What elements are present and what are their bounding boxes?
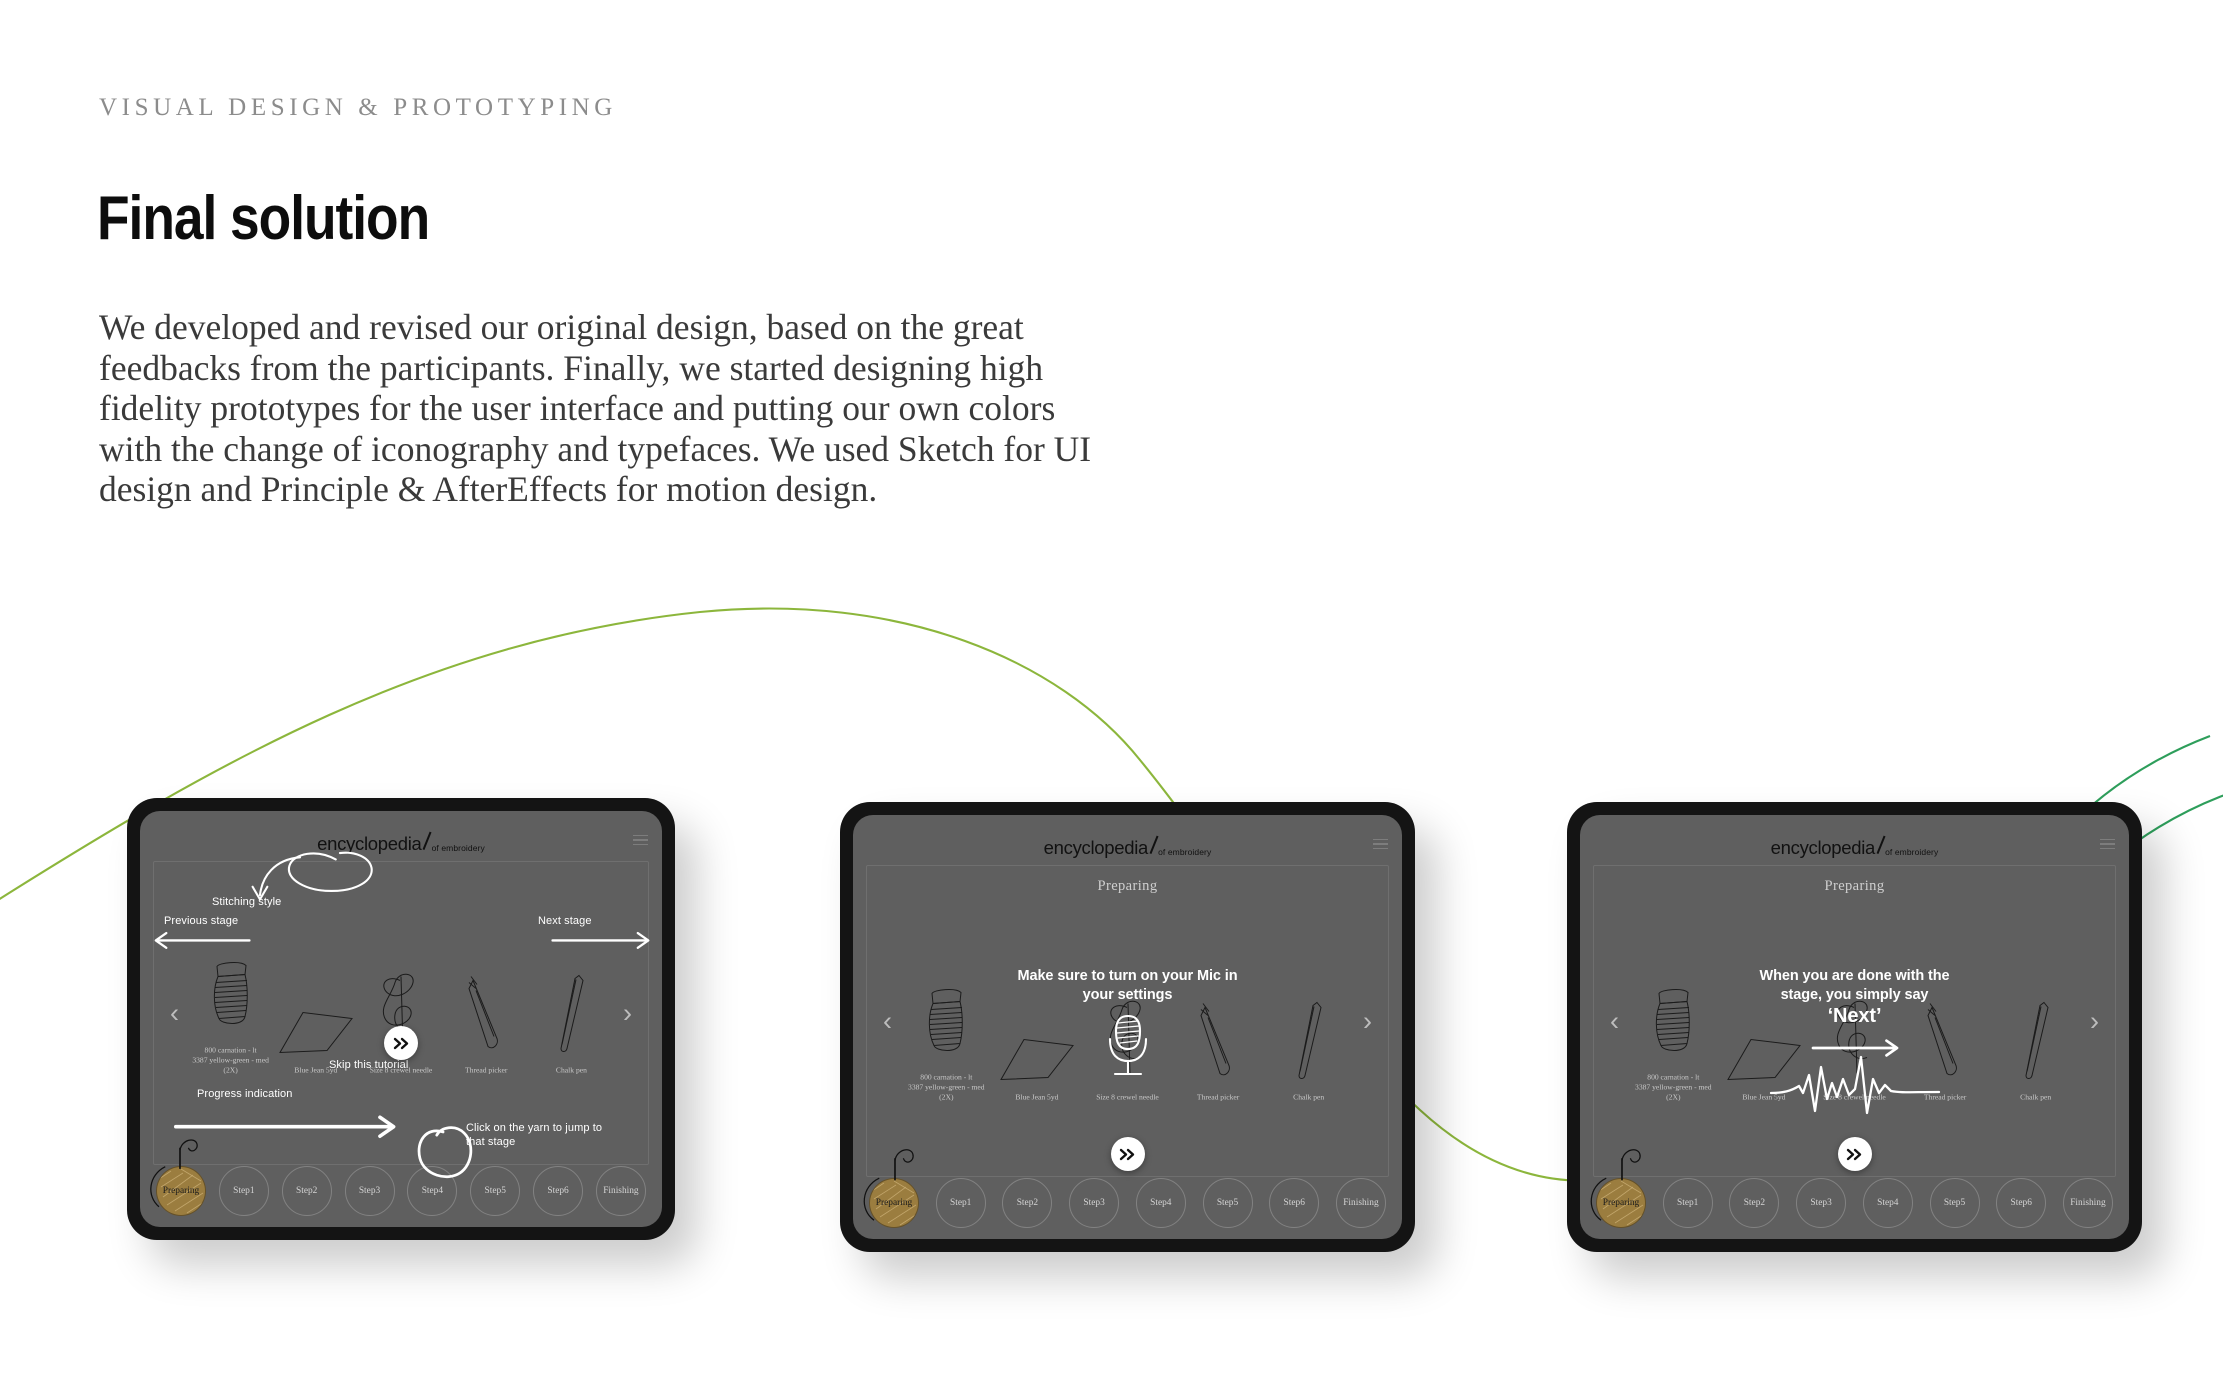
progress-step-3[interactable]: Step3 [345, 1166, 395, 1216]
tablet-2-screen: encyclopedia of embroidery Preparing [853, 815, 1402, 1239]
skip-tutorial-button[interactable] [384, 1026, 418, 1060]
progress-step-6[interactable]: Step6 [1269, 1178, 1319, 1228]
chalk-pen-icon [529, 971, 614, 1057]
progress-step-finishing[interactable]: Finishing [1336, 1178, 1386, 1228]
supply-caption: Thread picker [1173, 1092, 1264, 1102]
progress-step-2[interactable]: Step2 [282, 1166, 332, 1216]
next-keyword: ‘Next’ [1705, 1007, 2005, 1026]
thread-spool-icon [188, 951, 273, 1037]
progress-step-4[interactable]: Step4 [1136, 1178, 1186, 1228]
annotation-yarn-hint: Click on the yarn to jump to that stage [466, 1121, 606, 1149]
annotation-stitching-style: Stitching style [212, 895, 281, 909]
progress-step-6[interactable]: Step6 [533, 1166, 583, 1216]
progress-step-preparing[interactable]: Preparing [869, 1178, 919, 1228]
supply-caption: Chalk pen [1263, 1092, 1354, 1102]
audio-waveform-icon [1769, 1053, 1941, 1120]
mic-instruction-line1: Make sure to turn on your Mic in [1018, 968, 1238, 984]
stage-title: Preparing [1594, 878, 2115, 895]
progress-step-label: Step4 [1150, 1198, 1171, 1208]
supply-caption: 800 carnation - lt 3387 yellow-green - m… [901, 1072, 992, 1102]
progress-step-label: Step6 [2011, 1198, 2032, 1208]
app-logo: encyclopedia of embroidery [1771, 837, 1939, 859]
progress-step-label: Step1 [233, 1186, 254, 1196]
thread-picker-icon [444, 971, 529, 1057]
mic-instruction-line2: your settings [1083, 987, 1173, 1003]
progress-step-label: Preparing [876, 1198, 912, 1208]
progress-step-label: Preparing [163, 1186, 199, 1196]
mic-instruction-text: Make sure to turn on your Mic in your se… [978, 967, 1278, 1005]
progress-step-2[interactable]: Step2 [1002, 1178, 1052, 1228]
logo-needle-icon [1149, 836, 1158, 854]
progress-step-label: Step6 [547, 1186, 568, 1196]
progress-step-5[interactable]: Step5 [1203, 1178, 1253, 1228]
annotation-next-stage: Next stage [538, 914, 592, 928]
progress-step-label: Finishing [603, 1186, 638, 1196]
progress-step-label: Step6 [1284, 1198, 1305, 1208]
progress-step-label: Step4 [422, 1186, 443, 1196]
supply-caption: 800 carnation - lt 3387 yellow-green - m… [188, 1046, 273, 1076]
chalk-pen-icon [1263, 997, 1354, 1083]
progress-step-label: Step5 [1217, 1198, 1238, 1208]
supply-item[interactable]: Chalk pen [529, 971, 614, 1076]
microphone-icon [1102, 1011, 1154, 1086]
app-logo: encyclopedia of embroidery [317, 833, 485, 855]
progress-rail-1: Preparing Step1 Step2 Step3 Step4 Step5 … [156, 1164, 646, 1218]
next-instruction-line2: stage, you simply say [1781, 987, 1929, 1003]
logo-subtitle: of embroidery [432, 843, 485, 855]
tablet-mockup-3: encyclopedia of embroidery Preparing [1567, 802, 2142, 1252]
fabric-sheet-icon [992, 997, 1083, 1083]
slide-canvas: VISUAL DESIGN & PROTOTYPING Final soluti… [0, 0, 2223, 1389]
tablet-mockup-2: encyclopedia of embroidery Preparing [840, 802, 1415, 1252]
next-instruction-line1: When you are done with the [1760, 968, 1950, 984]
page-title: Final solution [97, 188, 429, 250]
progress-step-preparing[interactable]: Preparing [156, 1166, 206, 1216]
next-instruction-text: When you are done with the stage, you si… [1705, 967, 2005, 1026]
progress-step-finishing[interactable]: Finishing [596, 1166, 646, 1216]
supply-caption: 800 carnation - lt 3387 yellow-green - m… [1628, 1072, 1719, 1102]
supply-caption: Chalk pen [1990, 1092, 2081, 1102]
progress-step-label: Step3 [359, 1186, 380, 1196]
tablet-1-screen: encyclopedia of embroidery [140, 811, 662, 1227]
supply-caption: Blue Jean 5yd [992, 1092, 1083, 1102]
logo-subtitle: of embroidery [1885, 847, 1938, 859]
progress-step-5[interactable]: Step5 [470, 1166, 520, 1216]
progress-step-preparing[interactable]: Preparing [1596, 1178, 1646, 1228]
progress-step-1[interactable]: Step1 [219, 1166, 269, 1216]
supply-item[interactable]: Thread picker [1173, 997, 1264, 1102]
supply-caption: Chalk pen [529, 1066, 614, 1076]
progress-step-4[interactable]: Step4 [407, 1166, 457, 1216]
progress-step-label: Step3 [1810, 1198, 1831, 1208]
progress-step-1[interactable]: Step1 [936, 1178, 986, 1228]
supply-caption: Size 8 crewel needle [1082, 1092, 1173, 1102]
progress-step-2[interactable]: Step2 [1729, 1178, 1779, 1228]
tablet-mockup-1: encyclopedia of embroidery [127, 798, 675, 1240]
progress-step-label: Finishing [2070, 1198, 2105, 1208]
progress-step-label: Step1 [1677, 1198, 1698, 1208]
menu-icon[interactable] [633, 835, 648, 845]
progress-step-label: Step5 [1944, 1198, 1965, 1208]
progress-step-label: Step1 [950, 1198, 971, 1208]
slide-eyebrow: VISUAL DESIGN & PROTOTYPING [99, 94, 617, 122]
progress-step-3[interactable]: Step3 [1796, 1178, 1846, 1228]
progress-step-label: Step3 [1083, 1198, 1104, 1208]
menu-icon[interactable] [2100, 839, 2115, 849]
supply-item[interactable]: Thread picker [444, 971, 529, 1076]
progress-rail-2: Preparing Step1 Step2 Step3 Step4 Step5 … [869, 1176, 1386, 1230]
slide-body-text: We developed and revised our original de… [99, 307, 1109, 510]
progress-step-label: Preparing [1603, 1198, 1639, 1208]
supply-item[interactable]: 800 carnation - lt 3387 yellow-green - m… [188, 951, 273, 1076]
supply-caption: Thread picker [444, 1066, 529, 1076]
progress-step-1[interactable]: Step1 [1663, 1178, 1713, 1228]
logo-needle-icon [423, 832, 432, 850]
progress-step-6[interactable]: Step6 [1996, 1178, 2046, 1228]
progress-step-label: Finishing [1343, 1198, 1378, 1208]
app-logo: encyclopedia of embroidery [1044, 837, 1212, 859]
progress-step-3[interactable]: Step3 [1069, 1178, 1119, 1228]
skip-tutorial-button[interactable] [1838, 1137, 1872, 1171]
menu-icon[interactable] [1373, 839, 1388, 849]
annotation-previous-stage: Previous stage [164, 914, 238, 928]
progress-step-label: Step5 [485, 1186, 506, 1196]
annotation-skip-tutorial: Skip this tutorial [329, 1058, 408, 1072]
logo-subtitle: of embroidery [1158, 847, 1211, 859]
progress-step-finishing[interactable]: Finishing [2063, 1178, 2113, 1228]
progress-step-label: Step2 [296, 1186, 317, 1196]
progress-step-4[interactable]: Step4 [1863, 1178, 1913, 1228]
progress-step-5[interactable]: Step5 [1930, 1178, 1980, 1228]
fabric-sheet-icon [273, 971, 358, 1057]
logo-wordmark: encyclopedia [1771, 837, 1875, 859]
progress-rail-3: Preparing Step1 Step2 Step3 Step4 Step5 … [1596, 1176, 2113, 1230]
logo-wordmark: encyclopedia [317, 833, 421, 855]
stage-title: Preparing [867, 878, 1388, 895]
supply-item[interactable]: Chalk pen [1263, 997, 1354, 1102]
supply-item[interactable]: Blue Jean 5yd [992, 997, 1083, 1102]
skip-tutorial-button[interactable] [1111, 1137, 1145, 1171]
logo-needle-icon [1876, 836, 1885, 854]
progress-step-label: Step2 [1744, 1198, 1765, 1208]
tablet-3-screen: encyclopedia of embroidery Preparing [1580, 815, 2129, 1239]
progress-step-label: Step4 [1877, 1198, 1898, 1208]
progress-step-label: Step2 [1017, 1198, 1038, 1208]
thread-picker-icon [1173, 997, 1264, 1083]
annotation-progress-indication: Progress indication [197, 1087, 292, 1101]
logo-wordmark: encyclopedia [1044, 837, 1148, 859]
